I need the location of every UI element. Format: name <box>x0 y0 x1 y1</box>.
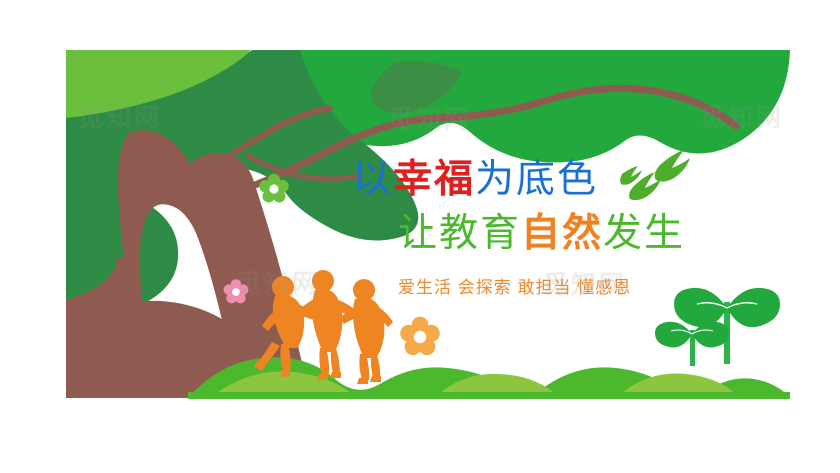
hill-baseline <box>188 392 790 399</box>
poster-artwork <box>0 0 840 473</box>
poster-canvas: 以幸福为底色 让教育自然发生 爱生活 会探索 敢担当 懂感恩 觅知网 觅知网 觅… <box>0 0 840 473</box>
